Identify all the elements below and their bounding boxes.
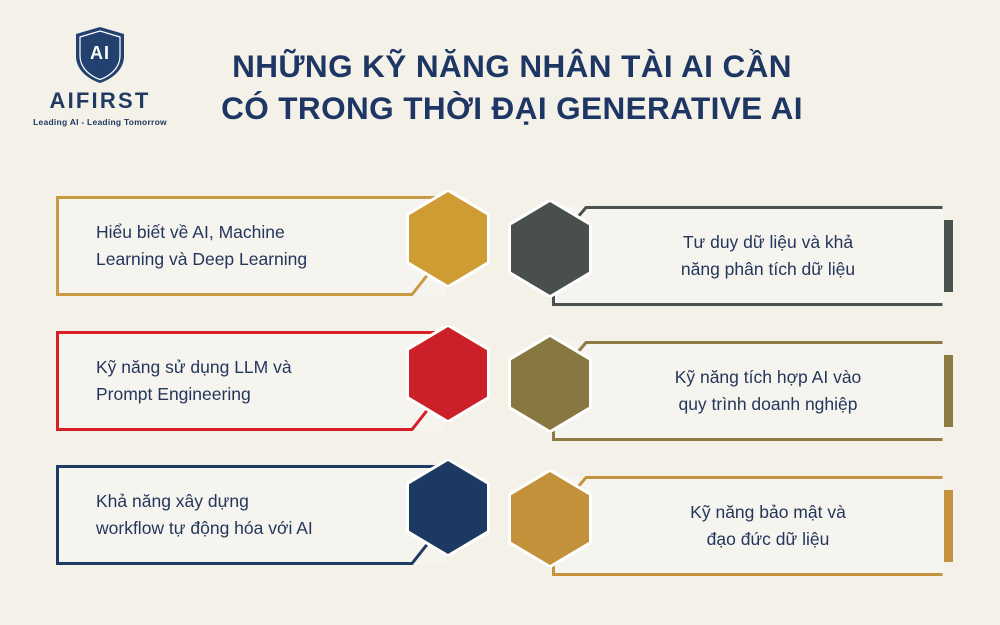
skill-card-text: Tư duy dữ liệu và khả năng phân tích dữ … [622,229,914,283]
skill-card-skill-workflow-automation[interactable]: Khả năng xây dựng workflow tự động hóa v… [56,465,446,565]
skill-card-accent-bar [944,490,953,562]
skill-card-text: Kỹ năng bảo mật và đạo đức dữ liệu [622,499,914,553]
skill-card-text: Kỹ năng tích hợp AI vào quy trình doanh … [622,364,914,418]
skill-card-skill-ai-integration[interactable]: Kỹ năng tích hợp AI vào quy trình doanh … [552,341,944,441]
skill-hexagon-skill-security-ethics [508,470,592,567]
page-title-line-2: CÓ TRONG THỜI ĐẠI GENERATIVE AI [182,88,842,130]
svg-text:AI: AI [90,43,110,63]
skill-card-text: Hiểu biết về AI, Machine Learning và Dee… [96,219,307,273]
page-title-line-1: NHỮNG KỸ NĂNG NHÂN TÀI AI CẦN [182,46,842,88]
hexagon-icon [508,470,592,567]
skill-hexagon-skill-data-thinking [508,200,592,297]
skill-card-text: Kỹ năng sử dụng LLM và Prompt Engineerin… [96,354,292,408]
skill-card-skill-data-thinking[interactable]: Tư duy dữ liệu và khả năng phân tích dữ … [552,206,944,306]
skill-hexagon-skill-ai-ml-dl [406,190,490,287]
logo-wordmark: AIFIRST [50,90,151,112]
skill-card-accent-bar [944,355,953,427]
hexagon-icon [508,200,592,297]
logo-tagline: Leading AI - Leading Tomorrow [33,118,167,127]
skill-card-text: Khả năng xây dựng workflow tự động hóa v… [96,488,313,542]
skill-hexagon-skill-ai-integration [508,335,592,432]
skill-card-accent-bar [944,220,953,292]
skill-hexagon-skill-llm-prompt [406,325,490,422]
skill-card-skill-ai-ml-dl[interactable]: Hiểu biết về AI, Machine Learning và Dee… [56,196,446,296]
hexagon-icon [406,190,490,287]
hexagon-icon [508,335,592,432]
skill-card-skill-llm-prompt[interactable]: Kỹ năng sử dụng LLM và Prompt Engineerin… [56,331,446,431]
skill-hexagon-skill-workflow-automation [406,459,490,556]
page-title: NHỮNG KỸ NĂNG NHÂN TÀI AI CẦN CÓ TRONG T… [182,46,842,129]
infographic-canvas: AI AIFIRST Leading AI - Leading Tomorrow… [0,0,1000,625]
skill-card-skill-security-ethics[interactable]: Kỹ năng bảo mật và đạo đức dữ liệu [552,476,944,576]
shield-icon: AI [74,26,126,84]
hexagon-icon [406,459,490,556]
hexagon-icon [406,325,490,422]
aifirst-logo: AI AIFIRST Leading AI - Leading Tomorrow [30,26,170,130]
